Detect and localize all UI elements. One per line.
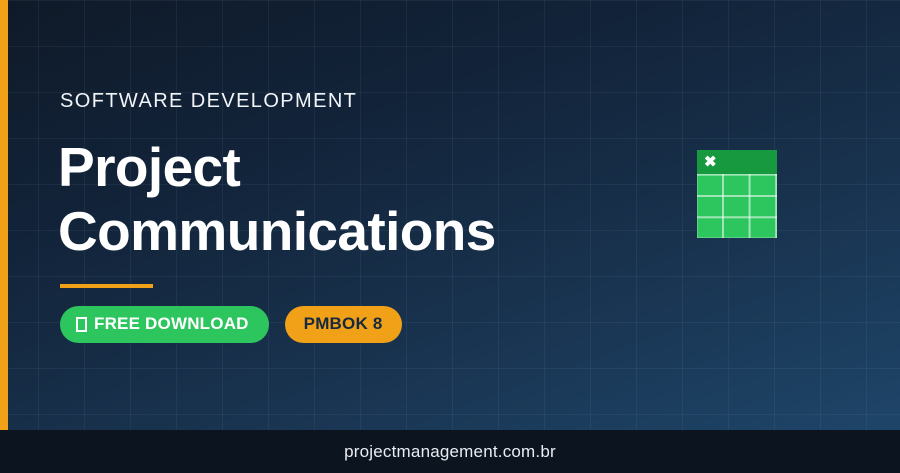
spreadsheet-cell-grid [697, 174, 777, 238]
free-download-button[interactable]: FREE DOWNLOAD [60, 306, 269, 343]
eyebrow-label: SOFTWARE DEVELOPMENT [60, 90, 357, 113]
left-accent-bar [0, 0, 8, 430]
headline-line-1: Project [58, 136, 496, 200]
download-icon [76, 317, 87, 332]
pmbok-badge-label: PMBOK 8 [304, 314, 383, 334]
spreadsheet-header-bar: ✖ [697, 150, 777, 174]
orange-divider [60, 284, 153, 288]
excel-spreadsheet-icon: ✖ [697, 150, 777, 238]
footer-bar: projectmanagement.com.br [0, 430, 900, 473]
excel-x-icon: ✖ [704, 155, 717, 170]
badge-group: FREE DOWNLOAD PMBOK 8 [60, 306, 402, 343]
pmbok-badge[interactable]: PMBOK 8 [285, 306, 402, 343]
promo-banner: SOFTWARE DEVELOPMENT Project Communicati… [0, 0, 900, 473]
free-download-label: FREE DOWNLOAD [94, 314, 249, 334]
website-url: projectmanagement.com.br [344, 442, 556, 462]
headline-line-2: Communications [58, 200, 496, 264]
page-title: Project Communications [58, 136, 496, 264]
